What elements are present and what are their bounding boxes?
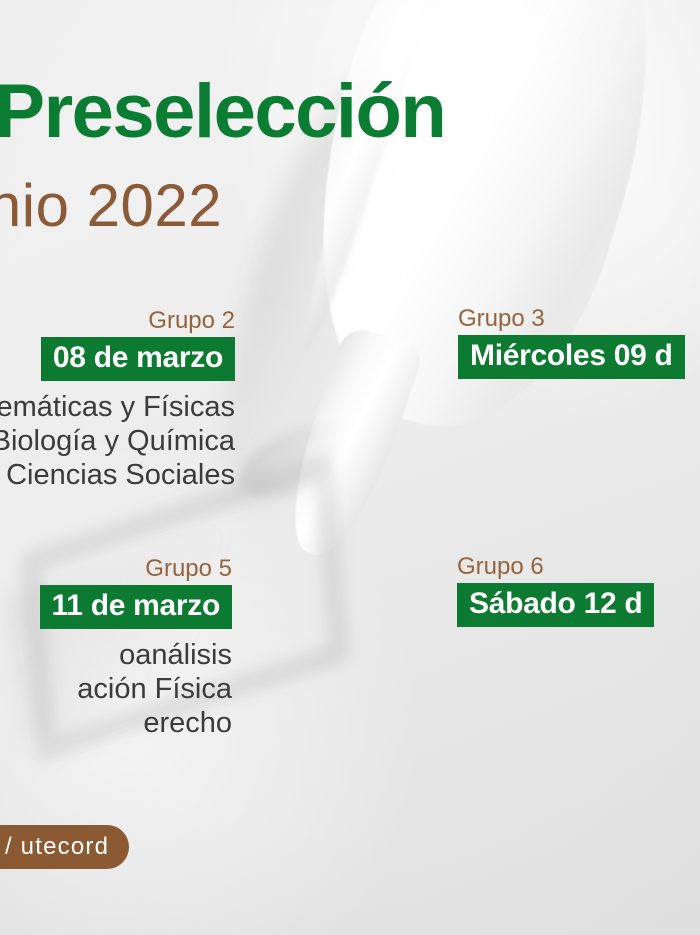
career-item: • Educación Co (457, 670, 700, 704)
handle-separator: / (5, 835, 12, 859)
pen-highlight-decoration (291, 0, 442, 355)
pen-tip-decoration (272, 325, 426, 565)
group-block-6: Grupo 6 Sábado 12 d • Postgra • Educació… (457, 554, 700, 704)
career-item: Biología y Química (0, 424, 235, 458)
page-subtitle: unio 2022 (0, 176, 222, 236)
group-label-2: Grupo 2 (0, 308, 235, 334)
career-list-2: atemáticas y Físicas Biología y Química … (0, 390, 235, 493)
career-item: atemáticas y Físicas (0, 390, 235, 424)
career-item: ación Física (0, 672, 232, 706)
handle-username: utecord (21, 835, 109, 859)
career-item: • Agropec (458, 422, 700, 456)
group-block-3: Grupo 3 Miércoles 09 d • Informá • Agrop… (458, 306, 700, 525)
page-title: e Preselección (0, 74, 445, 150)
career-item: oanálisis (0, 638, 232, 672)
career-item: Ciencias Sociales (0, 458, 235, 492)
date-badge-6: Sábado 12 d (457, 583, 654, 627)
career-item: • Ingenierí (458, 456, 700, 490)
social-handle-pill[interactable]: / utecord (0, 825, 129, 869)
date-badge-3: Miércoles 09 d (458, 335, 685, 379)
date-badge-5: 11 de marzo (40, 585, 232, 629)
group-block-2: Grupo 2 08 de marzo atemáticas y Físicas… (0, 308, 235, 493)
career-list-6: • Postgra • Educación Co (457, 636, 700, 704)
group-block-5: Grupo 5 11 de marzo oanálisis ación Físi… (0, 556, 232, 741)
career-item: • Informá (458, 388, 700, 422)
date-badge-2: 08 de marzo (41, 337, 235, 381)
career-item: erecho (0, 706, 232, 740)
career-item: • Ingeniería en (458, 491, 700, 525)
paper-corner-decoration (229, 406, 363, 518)
poster-canvas: e Preselección unio 2022 Grupo 2 08 de m… (0, 0, 700, 935)
group-label-5: Grupo 5 (0, 556, 232, 582)
career-list-5: oanálisis ación Física erecho (0, 638, 232, 741)
career-item: • Postgra (457, 636, 700, 670)
group-label-6: Grupo 6 (457, 554, 700, 580)
career-list-3: • Informá • Agropec • Ingenierí • Ingeni… (458, 388, 700, 525)
group-label-3: Grupo 3 (458, 306, 700, 332)
